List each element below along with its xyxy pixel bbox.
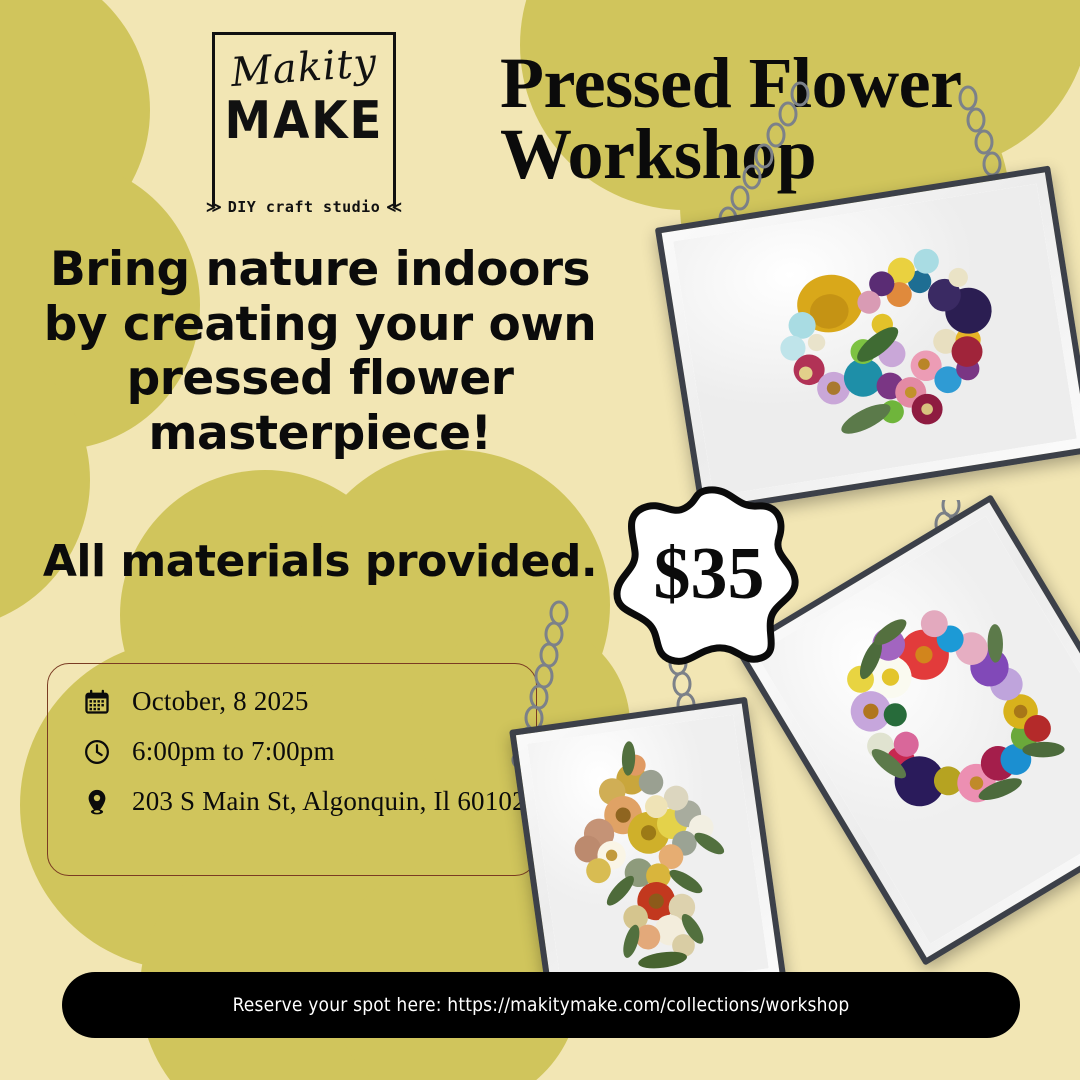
heart-pressed-flower-frame — [655, 165, 1080, 514]
brand-logo: Makity MAKE ≫ DIY craft studio ≪ — [212, 32, 396, 206]
logo-tagline-wrap: ≫ DIY craft studio ≪ — [215, 198, 393, 216]
logo-script-text: Makity — [214, 39, 395, 97]
reserve-cta-text[interactable]: Reserve your spot here: https://makityma… — [233, 994, 850, 1016]
detail-row-time: 6:00pm to 7:00pm — [82, 736, 536, 768]
logo-block-text: MAKE — [215, 95, 393, 147]
price-badge: $35 — [613, 486, 805, 666]
cross-pressed-flower-frame — [509, 697, 787, 1016]
detail-row-location: 203 S Main St, Algonquin, Il 60102 — [82, 786, 536, 818]
subline-text: All materials provided. — [20, 536, 620, 587]
event-details-card: October, 8 2025 6:00pm to 7:00pm 203 — [47, 663, 537, 876]
detail-location-text: 203 S Main St, Algonquin, Il 60102 — [132, 786, 526, 818]
chevron-right-icon: ≫ — [206, 198, 222, 216]
reserve-cta-bar[interactable]: Reserve your spot here: https://makityma… — [62, 972, 1020, 1038]
location-pin-icon — [82, 786, 112, 816]
clock-icon — [82, 736, 112, 766]
headline-text: Bring nature indoors by creating your ow… — [20, 243, 620, 461]
chevron-left-icon: ≪ — [386, 198, 402, 216]
detail-date-text: October, 8 2025 — [132, 686, 309, 718]
logo-tagline: DIY craft studio — [228, 198, 381, 216]
detail-time-text: 6:00pm to 7:00pm — [132, 736, 335, 768]
price-amount: $35 — [613, 486, 805, 666]
detail-row-date: October, 8 2025 — [82, 686, 536, 718]
calendar-icon — [82, 686, 112, 716]
poster-canvas: Makity MAKE ≫ DIY craft studio ≪ Pressed… — [0, 0, 1080, 1080]
